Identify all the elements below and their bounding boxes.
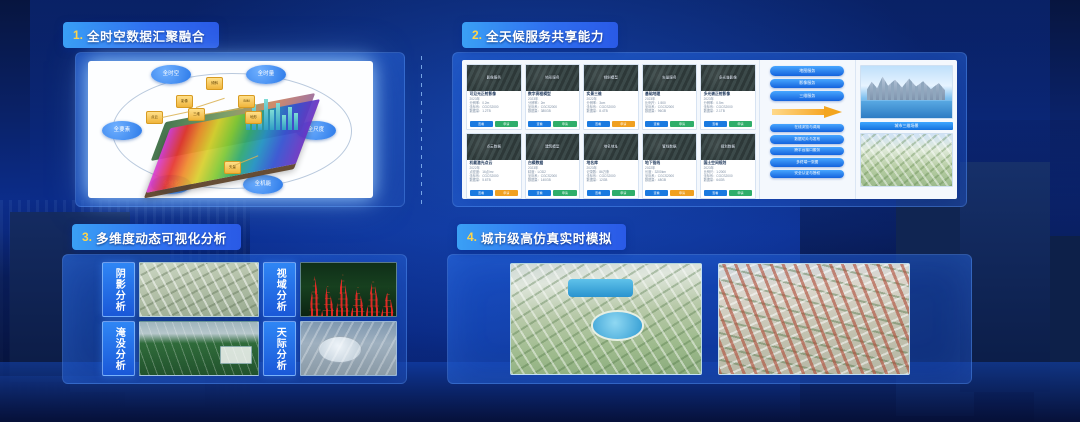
flow-pill-top-0[interactable]: 地图服务 <box>770 66 844 76</box>
service-portal-screenshot: 影像服务可见光正射影像2023年分辨率：0.2m坐标系：CGCS2000数据量：… <box>462 60 957 199</box>
dataset-apply-button[interactable]: 申请 <box>612 190 635 196</box>
dataset-meta: 基础地理2023年比例尺：1:500坐标系：CGCS2000数据量：96GB <box>643 91 697 120</box>
panel-3-number: 3. <box>82 230 92 244</box>
analysis-image-skyline[interactable] <box>300 321 397 376</box>
dataset-thumbnail-tag: 管线数据 <box>662 145 676 150</box>
dataset-thumbnail: 矢量服务 <box>643 65 697 91</box>
service-preview-column: 城市三维场景 <box>855 60 957 199</box>
preview-city-skyline[interactable] <box>860 65 953 119</box>
bubble-1: 全时空 <box>151 65 191 84</box>
dataset-apply-button[interactable]: 申请 <box>612 121 635 127</box>
dataset-thumbnail-tag: 点云数据 <box>487 145 501 150</box>
panel-visual-analysis: 3. 多维度动态可视化分析 阴影分析 淹没分析 视域分析 天际分析 <box>62 254 407 384</box>
dataset-size: 数据量：2.1TB <box>704 110 753 113</box>
panel-divider <box>421 56 422 204</box>
panel-2-tab[interactable]: 2. 全天候服务共享能力 <box>462 22 618 48</box>
bubble-3: 全要素 <box>102 121 142 140</box>
dataset-actions: 查看申请 <box>584 120 638 130</box>
dataset-view-button[interactable]: 查看 <box>528 190 551 196</box>
node-2: 影像 <box>176 95 193 108</box>
dataset-thumbnail-tag: 规划数据 <box>721 145 735 150</box>
dataset-thumbnail-tag: 建筑模型 <box>545 145 559 150</box>
flow-arrow-icon <box>772 106 842 119</box>
ecosystem-diagram-card: 全时空 全时量 全要素 全尺度 全域化 全机能 倾斜 影像 点云 三维 BIM … <box>88 61 373 198</box>
dataset-view-button[interactable]: 查看 <box>704 190 727 196</box>
dataset-size: 数据量：1.2TB <box>470 110 519 113</box>
dataset-card[interactable]: 建筑模型白模数据2023年精度：LOD2坐标系：CGCS2000数据量：140G… <box>525 133 581 199</box>
dataset-apply-button[interactable]: 申请 <box>670 190 693 196</box>
analysis-label-inundation[interactable]: 淹没分析 <box>102 321 135 376</box>
analysis-image-column-left <box>139 262 259 376</box>
panel-service-sharing: 2. 全天候服务共享能力 影像服务可见光正射影像2023年分辨率：0.2m坐标系… <box>452 52 967 207</box>
preview-label: 城市三维场景 <box>860 122 953 130</box>
dataset-thumbnail: 点云数据 <box>467 134 521 160</box>
dataset-actions: 查看申请 <box>467 120 521 130</box>
dataset-card[interactable]: 多光谱影像多光谱正射影像2023年分辨率：0.5m坐标系：CGCS2000数据量… <box>700 64 756 130</box>
dataset-meta: 地名库2023年记录数：86万条坐标系：CGCS2000数据量：12GB <box>584 160 638 189</box>
dataset-actions: 查看申请 <box>467 189 521 199</box>
dataset-card[interactable]: 规划数据国土空间规划2023年比例尺：1:2000坐标系：CGCS2000数据量… <box>700 133 756 199</box>
dataset-view-button[interactable]: 查看 <box>645 121 668 127</box>
dataset-card[interactable]: 倾斜模型实景三维2022年分辨率：3cm坐标系：CGCS2000数据量：8.4T… <box>583 64 639 130</box>
dataset-size: 数据量：12GB <box>587 179 636 182</box>
panel-2-title: 全天候服务共享能力 <box>486 26 604 45</box>
render-residential-block[interactable] <box>718 263 910 375</box>
dataset-card[interactable]: 地形服务数字高程模型2023年分辨率：2m坐标系：CGCS2000数据量：380… <box>525 64 581 130</box>
analysis-tiles: 阴影分析 淹没分析 视域分析 天际分析 <box>102 262 397 376</box>
dataset-card[interactable]: 影像服务可见光正射影像2023年分辨率：0.2m坐标系：CGCS2000数据量：… <box>466 64 522 130</box>
dataset-thumbnail: 管线数据 <box>643 134 697 160</box>
dataset-view-button[interactable]: 查看 <box>528 121 551 127</box>
dataset-view-button[interactable]: 查看 <box>704 121 727 127</box>
panel-3-tab[interactable]: 3. 多维度动态可视化分析 <box>72 224 241 250</box>
bubble-2: 全时量 <box>246 65 286 84</box>
dataset-apply-button[interactable]: 申请 <box>495 121 518 127</box>
dataset-view-button[interactable]: 查看 <box>470 190 493 196</box>
dataset-apply-button[interactable]: 申请 <box>729 190 752 196</box>
flow-pill-top-2[interactable]: 三维服务 <box>770 91 844 101</box>
bubble-6: 全机能 <box>243 175 283 194</box>
panel-3-title: 多维度动态可视化分析 <box>96 228 227 247</box>
simulation-renders <box>510 263 910 375</box>
node-4: 三维 <box>188 108 205 121</box>
analysis-label-column-right: 视域分析 天际分析 <box>263 262 296 376</box>
panel-spatiotemporal-data: 1. 全时空数据汇聚融合 全时空 全时量 全要素 全尺度 全域化 全机能 倾斜 … <box>75 52 405 207</box>
panel-4-title: 城市级高仿真实时模拟 <box>481 228 612 247</box>
panel-4-number: 4. <box>467 230 477 244</box>
dataset-actions: 查看申请 <box>701 120 755 130</box>
dataset-meta: 数字高程模型2023年分辨率：2m坐标系：CGCS2000数据量：380GB <box>526 91 580 120</box>
dataset-size: 数据量：140GB <box>528 179 577 182</box>
dataset-card[interactable]: 点云数据机载激光点云2022年点密度：16点/m²坐标系：CGCS2000数据量… <box>466 133 522 199</box>
slide-stage: 1. 全时空数据汇聚融合 全时空 全时量 全要素 全尺度 全域化 全机能 倾斜 … <box>0 0 1080 422</box>
dataset-apply-button[interactable]: 申请 <box>729 121 752 127</box>
panel-city-simulation: 4. 城市级高仿真实时模拟 <box>447 254 972 384</box>
dataset-size: 数据量：380GB <box>528 110 577 113</box>
dataset-size: 数据量：5.6TB <box>470 179 519 182</box>
flow-pill-bottom-3[interactable]: 多终端一张图 <box>770 158 844 167</box>
dataset-meta: 实景三维2022年分辨率：3cm坐标系：CGCS2000数据量：8.4TB <box>584 91 638 120</box>
dataset-thumbnail: 地名地址 <box>584 134 638 160</box>
dataset-apply-button[interactable]: 申请 <box>553 190 576 196</box>
dataset-apply-button[interactable]: 申请 <box>670 121 693 127</box>
flow-pill-top-1[interactable]: 影像服务 <box>770 79 844 89</box>
analysis-image-viewshed[interactable] <box>300 262 397 317</box>
dataset-actions: 查看申请 <box>643 189 697 199</box>
dataset-actions: 查看申请 <box>526 120 580 130</box>
dataset-thumbnail-tag: 倾斜模型 <box>604 76 618 81</box>
panel-1-tab[interactable]: 1. 全时空数据汇聚融合 <box>63 22 219 48</box>
dataset-card[interactable]: 地名地址地名库2023年记录数：86万条坐标系：CGCS2000数据量：12GB… <box>583 133 639 199</box>
panel-4-tab[interactable]: 4. 城市级高仿真实时模拟 <box>457 224 626 250</box>
dataset-meta: 可见光正射影像2023年分辨率：0.2m坐标系：CGCS2000数据量：1.2T… <box>467 91 521 120</box>
dataset-card[interactable]: 管线数据地下管线2022年长度：3200km坐标系：CGCS2000数据量：48… <box>642 133 698 199</box>
dataset-thumbnail-tag: 影像服务 <box>487 76 501 81</box>
dataset-thumbnail: 建筑模型 <box>526 134 580 160</box>
dataset-meta: 多光谱正射影像2023年分辨率：0.5m坐标系：CGCS2000数据量：2.1T… <box>701 91 755 120</box>
dataset-thumbnail: 地形服务 <box>526 65 580 91</box>
analysis-image-column-right <box>300 262 397 376</box>
panel-2-number: 2. <box>472 28 482 42</box>
dataset-thumbnail-tag: 地名地址 <box>604 145 618 150</box>
dataset-view-button[interactable]: 查看 <box>587 121 610 127</box>
dataset-actions: 查看申请 <box>584 189 638 199</box>
flow-pill-bottom-1[interactable]: 数据切片与发布 <box>770 135 844 144</box>
dataset-meta: 白模数据2023年精度：LOD2坐标系：CGCS2000数据量：140GB <box>526 160 580 189</box>
dataset-thumbnail-tag: 矢量服务 <box>662 76 676 81</box>
analysis-image-inundation[interactable] <box>139 321 259 376</box>
node-1: 倾斜 <box>206 77 223 90</box>
dataset-actions: 查看申请 <box>701 189 755 199</box>
preview-aerial-view[interactable] <box>860 133 953 187</box>
dataset-thumbnail: 多光谱影像 <box>701 65 755 91</box>
panel-1-number: 1. <box>73 28 83 42</box>
analysis-image-shadow[interactable] <box>139 262 259 317</box>
dataset-meta: 国土空间规划2023年比例尺：1:2000坐标系：CGCS2000数据量：64G… <box>701 160 755 189</box>
analysis-label-skyline[interactable]: 天际分析 <box>263 321 296 376</box>
node-6: 地形 <box>245 111 262 124</box>
dataset-actions: 查看申请 <box>526 189 580 199</box>
dataset-view-button[interactable]: 查看 <box>645 190 668 196</box>
service-flow-column: 地图服务 影像服务 三维服务 在线浏览与调用 数据切片与发布 跨平台接口服务 多… <box>759 60 855 199</box>
dataset-thumbnail: 规划数据 <box>701 134 755 160</box>
dataset-apply-button[interactable]: 申请 <box>495 190 518 196</box>
dataset-meta: 机载激光点云2022年点密度：16点/m²坐标系：CGCS2000数据量：5.6… <box>467 160 521 189</box>
render-city-park[interactable] <box>510 263 702 375</box>
dataset-view-button[interactable]: 查看 <box>470 121 493 127</box>
dataset-card[interactable]: 矢量服务基础地理2023年比例尺：1:500坐标系：CGCS2000数据量：96… <box>642 64 698 130</box>
dataset-thumbnail-tag: 多光谱影像 <box>719 76 737 81</box>
analysis-label-viewshed[interactable]: 视域分析 <box>263 262 296 317</box>
node-3: 点云 <box>146 111 163 124</box>
dataset-size: 数据量：64GB <box>704 179 753 182</box>
dataset-size: 数据量：96GB <box>645 110 694 113</box>
dataset-actions: 查看申请 <box>643 120 697 130</box>
flow-pill-bottom-0[interactable]: 在线浏览与调用 <box>770 124 844 133</box>
node-5: BIM <box>238 95 255 108</box>
flow-pill-bottom-4[interactable]: 安全认证与授权 <box>770 170 844 179</box>
dataset-thumbnail: 倾斜模型 <box>584 65 638 91</box>
dataset-thumbnail-tag: 地形服务 <box>545 76 559 81</box>
analysis-label-shadow[interactable]: 阴影分析 <box>102 262 135 317</box>
dataset-catalogue-grid: 影像服务可见光正射影像2023年分辨率：0.2m坐标系：CGCS2000数据量：… <box>462 60 759 199</box>
panel-1-title: 全时空数据汇聚融合 <box>87 26 205 45</box>
dataset-size: 数据量：48GB <box>645 179 694 182</box>
dataset-apply-button[interactable]: 申请 <box>553 121 576 127</box>
dataset-view-button[interactable]: 查看 <box>587 190 610 196</box>
dataset-thumbnail: 影像服务 <box>467 65 521 91</box>
dataset-meta: 地下管线2022年长度：3200km坐标系：CGCS2000数据量：48GB <box>643 160 697 189</box>
dataset-size: 数据量：8.4TB <box>587 110 636 113</box>
flow-pill-bottom-2[interactable]: 跨平台接口服务 <box>770 147 844 156</box>
analysis-label-column-left: 阴影分析 淹没分析 <box>102 262 135 376</box>
